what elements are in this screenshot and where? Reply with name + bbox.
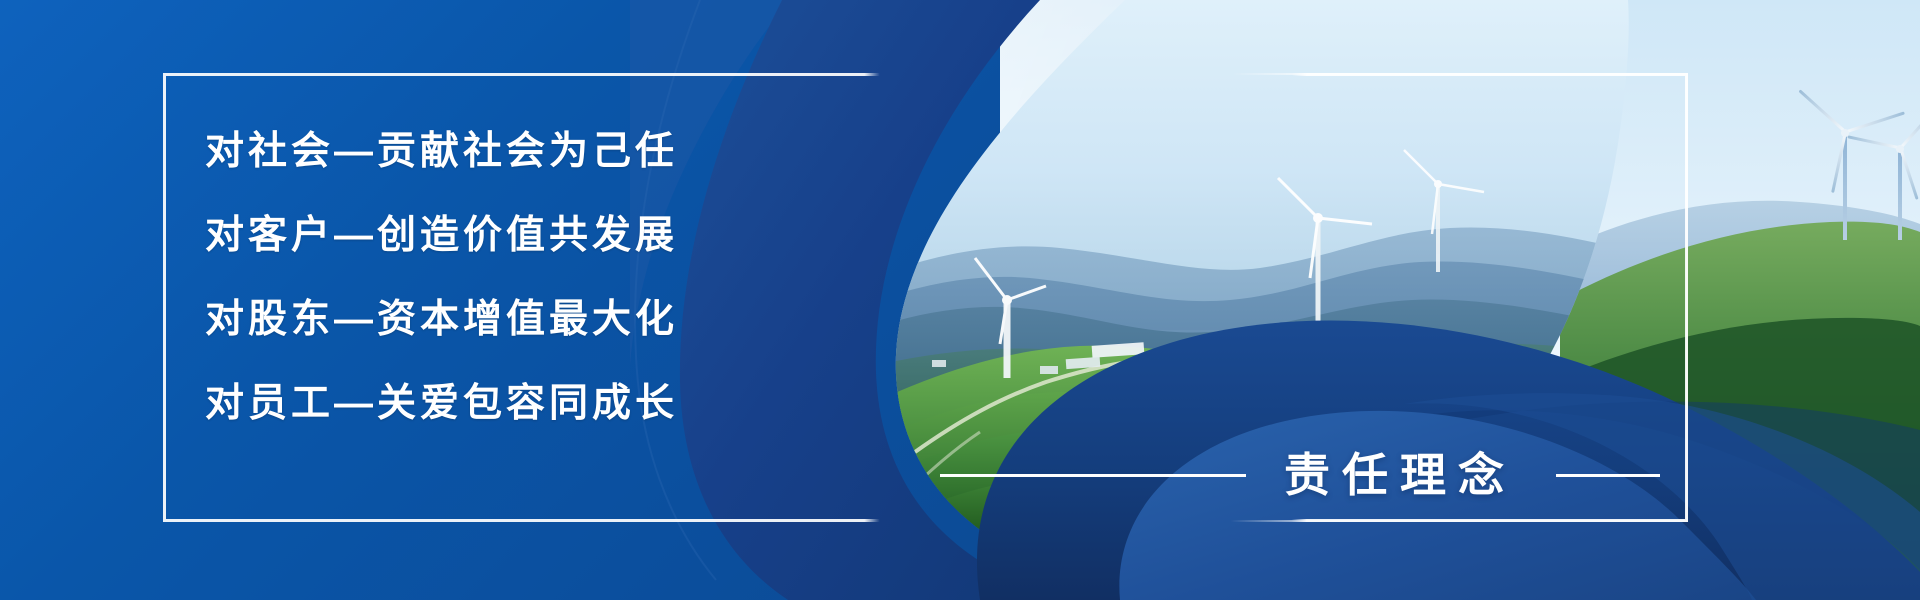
page-title: 责任理念 bbox=[1284, 452, 1516, 498]
title-rule-left bbox=[940, 474, 1246, 477]
philosophy-list: 对社会—贡献社会为己任 对客户—创造价值共发展 对股东—资本增值最大化 对员工—… bbox=[205, 132, 765, 423]
philosophy-line-shareholder: 对股东—资本增值最大化 bbox=[205, 300, 765, 339]
philosophy-line-customer: 对客户—创造价值共发展 bbox=[205, 216, 765, 255]
philosophy-line-society: 对社会—贡献社会为己任 bbox=[205, 132, 765, 171]
banner-title-group: 责任理念 bbox=[940, 452, 1660, 498]
title-rule-right bbox=[1556, 474, 1660, 477]
responsibility-philosophy-banner: 对社会—贡献社会为己任 对客户—创造价值共发展 对股东—资本增值最大化 对员工—… bbox=[0, 0, 1920, 600]
philosophy-line-employee: 对员工—关爱包容同成长 bbox=[205, 384, 765, 423]
